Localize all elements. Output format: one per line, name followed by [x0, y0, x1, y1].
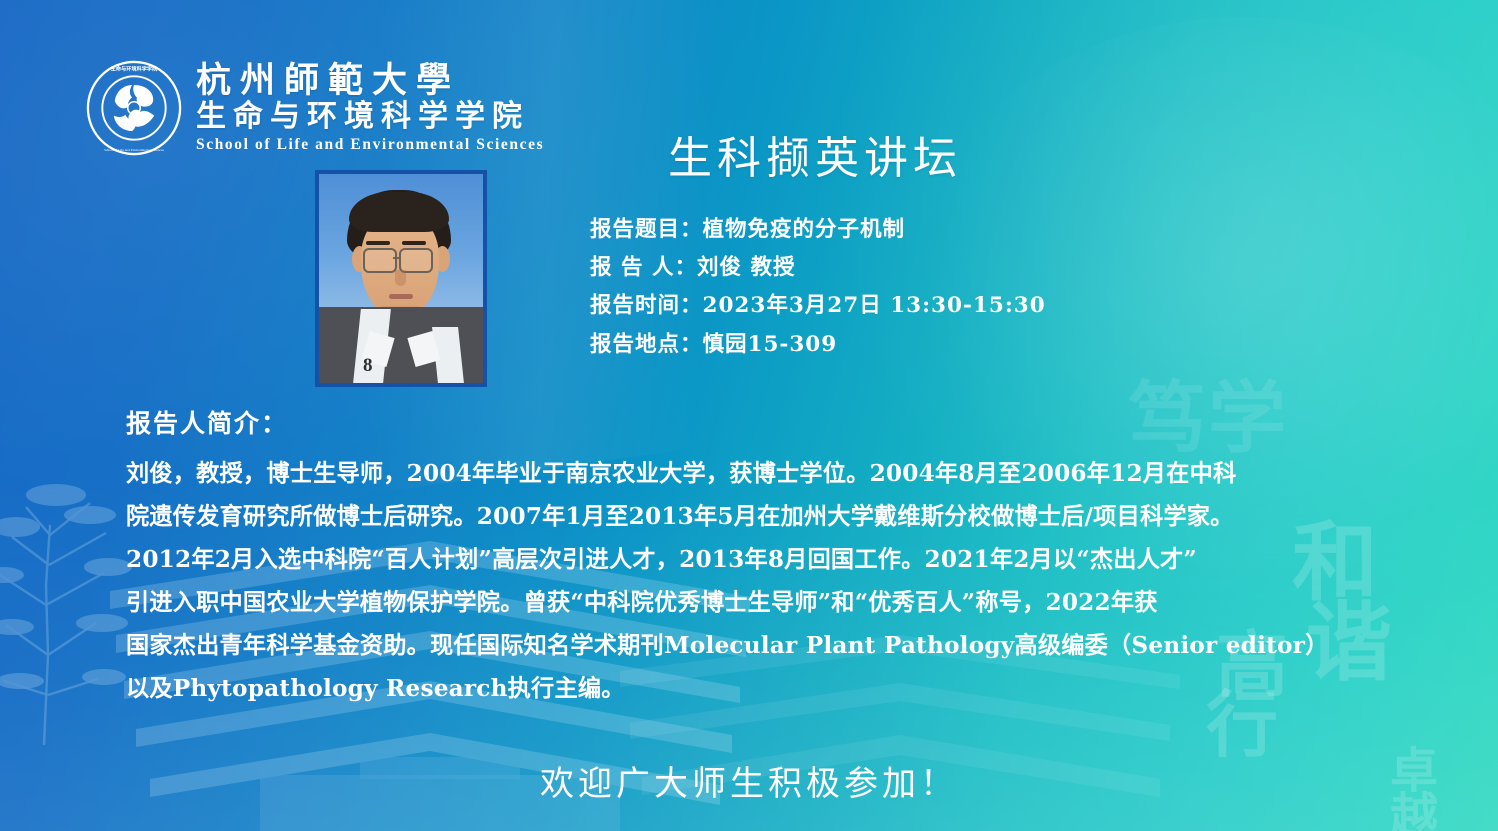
- bio-line: 院遗传发育研究所做博士后研究。2007年1月至2013年5月在加州大学戴维斯分校…: [126, 495, 1388, 538]
- poster-title: 生科撷英讲坛: [668, 122, 962, 186]
- info-venue: 报告地点：慎园15-309: [590, 329, 1046, 360]
- photo-brow-left: [366, 241, 390, 245]
- info-speaker: 报 告 人：刘俊 教授: [590, 252, 1046, 283]
- bio-line: 2012年2月入选中科院“百人计划”高层次引进人才，2013年8月回国工作。20…: [126, 538, 1388, 581]
- school-logo-text: 杭州師範大學 生命与环境科学学院 School of Life and Envi…: [196, 62, 544, 154]
- college-name-en: School of Life and Environmental Science…: [196, 136, 544, 154]
- photo-shirt-emblem: 8: [363, 355, 373, 377]
- photo-fringe: [349, 192, 449, 232]
- bio-line: 以及Phytopathology Research执行主编。: [126, 667, 1388, 710]
- bio-line: 刘俊，教授，博士生导师，2004年毕业于南京农业大学，获博士学位。2004年8月…: [126, 452, 1388, 495]
- lecture-poster: 笃学 和 谐 高 行 卓 越 生命与环境科学学院 School of Life …: [0, 0, 1498, 831]
- bio-line: 国家杰出青年科学基金资助。现任国际知名学术期刊Molecular Plant P…: [126, 624, 1388, 667]
- speaker-photo-frame: 8: [315, 170, 487, 387]
- info-datetime: 报告时间：2023年3月27日 13:30-15:30: [590, 290, 1046, 321]
- welcome-message: 欢迎广大师生积极参加！: [0, 756, 1498, 805]
- school-logo-block: 生命与环境科学学院 School of Life and Environment…: [86, 60, 544, 156]
- university-name-cn: 杭州師範大學: [196, 62, 544, 100]
- svg-text:School of Life and Environment: School of Life and Environmental Science…: [104, 148, 165, 152]
- svg-text:生命与环境科学学院: 生命与环境科学学院: [111, 65, 158, 73]
- photo-glasses-left: [363, 248, 397, 273]
- info-topic: 报告题目：植物免疫的分子机制: [590, 214, 1046, 245]
- college-name-cn: 生命与环境科学学院: [196, 100, 544, 134]
- lecture-info-block: 报告题目：植物免疫的分子机制 报 告 人：刘俊 教授 报告时间：2023年3月2…: [590, 214, 1046, 360]
- school-emblem-icon: 生命与环境科学学院 School of Life and Environment…: [86, 60, 182, 156]
- photo-mouth: [389, 294, 413, 299]
- photo-brow-right: [402, 241, 426, 245]
- bio-line: 引进入职中国农业大学植物保护学院。曾获“中科院优秀博士生导师”和“优秀百人”称号…: [126, 581, 1388, 624]
- bio-heading: 报告人简介：: [126, 404, 288, 440]
- photo-glasses-bridge: [393, 257, 399, 259]
- speaker-photo: 8: [319, 174, 483, 383]
- bio-body: 刘俊，教授，博士生导师，2004年毕业于南京农业大学，获博士学位。2004年8月…: [126, 452, 1388, 710]
- photo-nose: [395, 270, 406, 286]
